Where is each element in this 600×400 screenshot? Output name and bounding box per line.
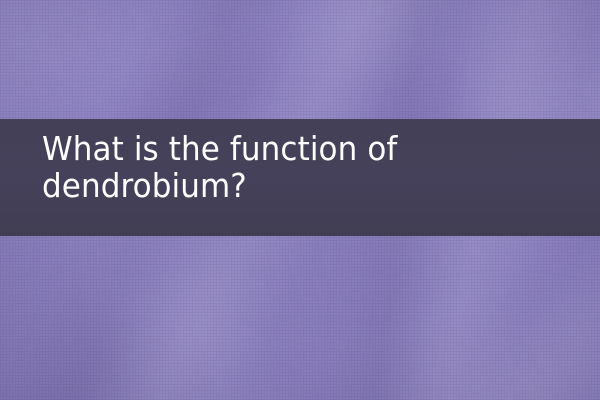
image-canvas: What is the function of dendrobium? bbox=[0, 0, 600, 400]
caption-text: What is the function of dendrobium? bbox=[42, 130, 548, 204]
caption-banner: What is the function of dendrobium? bbox=[0, 119, 600, 236]
